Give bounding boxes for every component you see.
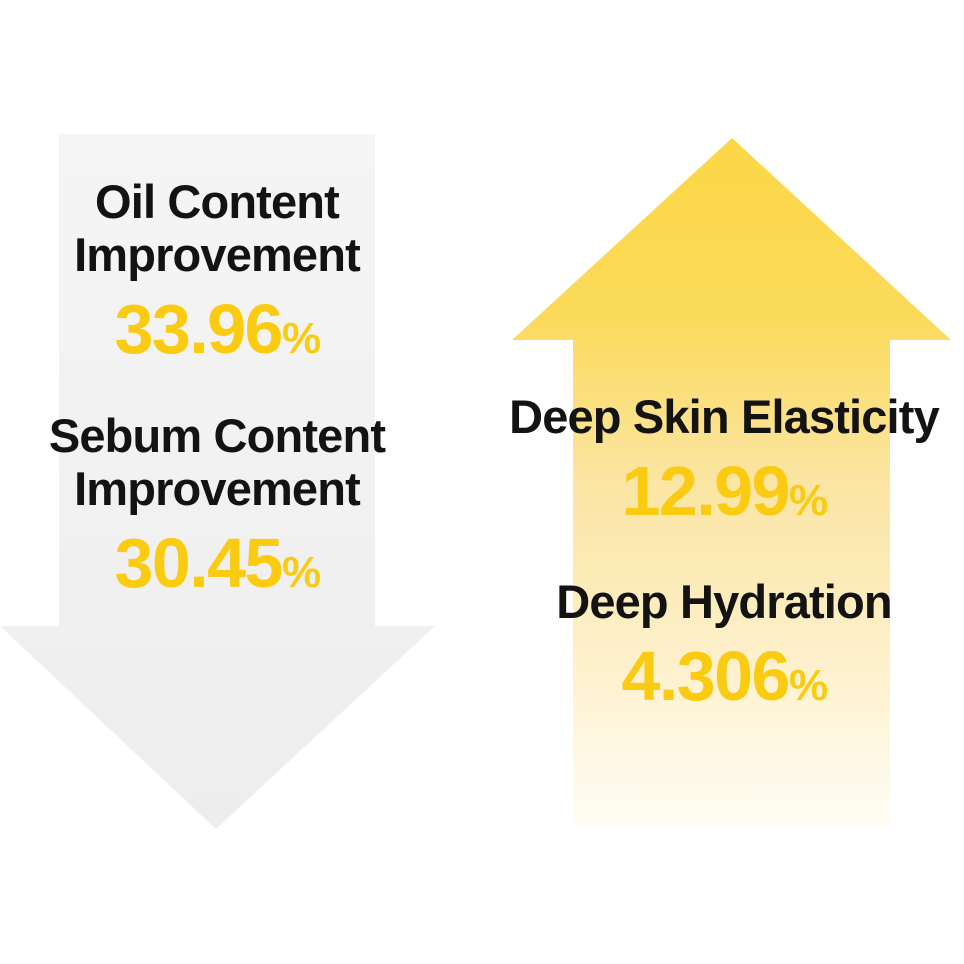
metric-value-row: 33.96% — [0, 294, 434, 364]
metric-unit: % — [789, 476, 827, 525]
metric-unit: % — [789, 661, 827, 710]
metric-title-line1: Sebum Content — [0, 412, 434, 459]
metric-unit: % — [282, 314, 320, 363]
metric-title-line1: Deep Skin Elasticity — [484, 393, 964, 440]
metric-value-row: 4.306% — [494, 641, 954, 711]
infographic-canvas: Oil Content Improvement 33.96% Sebum Con… — [0, 0, 964, 964]
metric-oil-content: Oil Content Improvement 33.96% — [0, 178, 434, 364]
metric-value: 4.306 — [621, 637, 788, 715]
metric-sebum-content: Sebum Content Improvement 30.45% — [0, 412, 434, 598]
metric-value: 12.99 — [621, 452, 788, 530]
metric-value-row: 30.45% — [0, 528, 434, 598]
metric-value-row: 12.99% — [484, 456, 964, 526]
metric-title-line2: Improvement — [0, 231, 434, 278]
metric-value: 33.96 — [114, 290, 281, 368]
metric-title-line1: Deep Hydration — [494, 578, 954, 625]
metric-deep-skin-elasticity: Deep Skin Elasticity 12.99% — [484, 393, 964, 526]
metric-value: 30.45 — [114, 524, 281, 602]
metric-deep-hydration: Deep Hydration 4.306% — [494, 578, 954, 711]
metric-unit: % — [282, 548, 320, 597]
metric-title-line2: Improvement — [0, 465, 434, 512]
metric-title-line1: Oil Content — [0, 178, 434, 225]
